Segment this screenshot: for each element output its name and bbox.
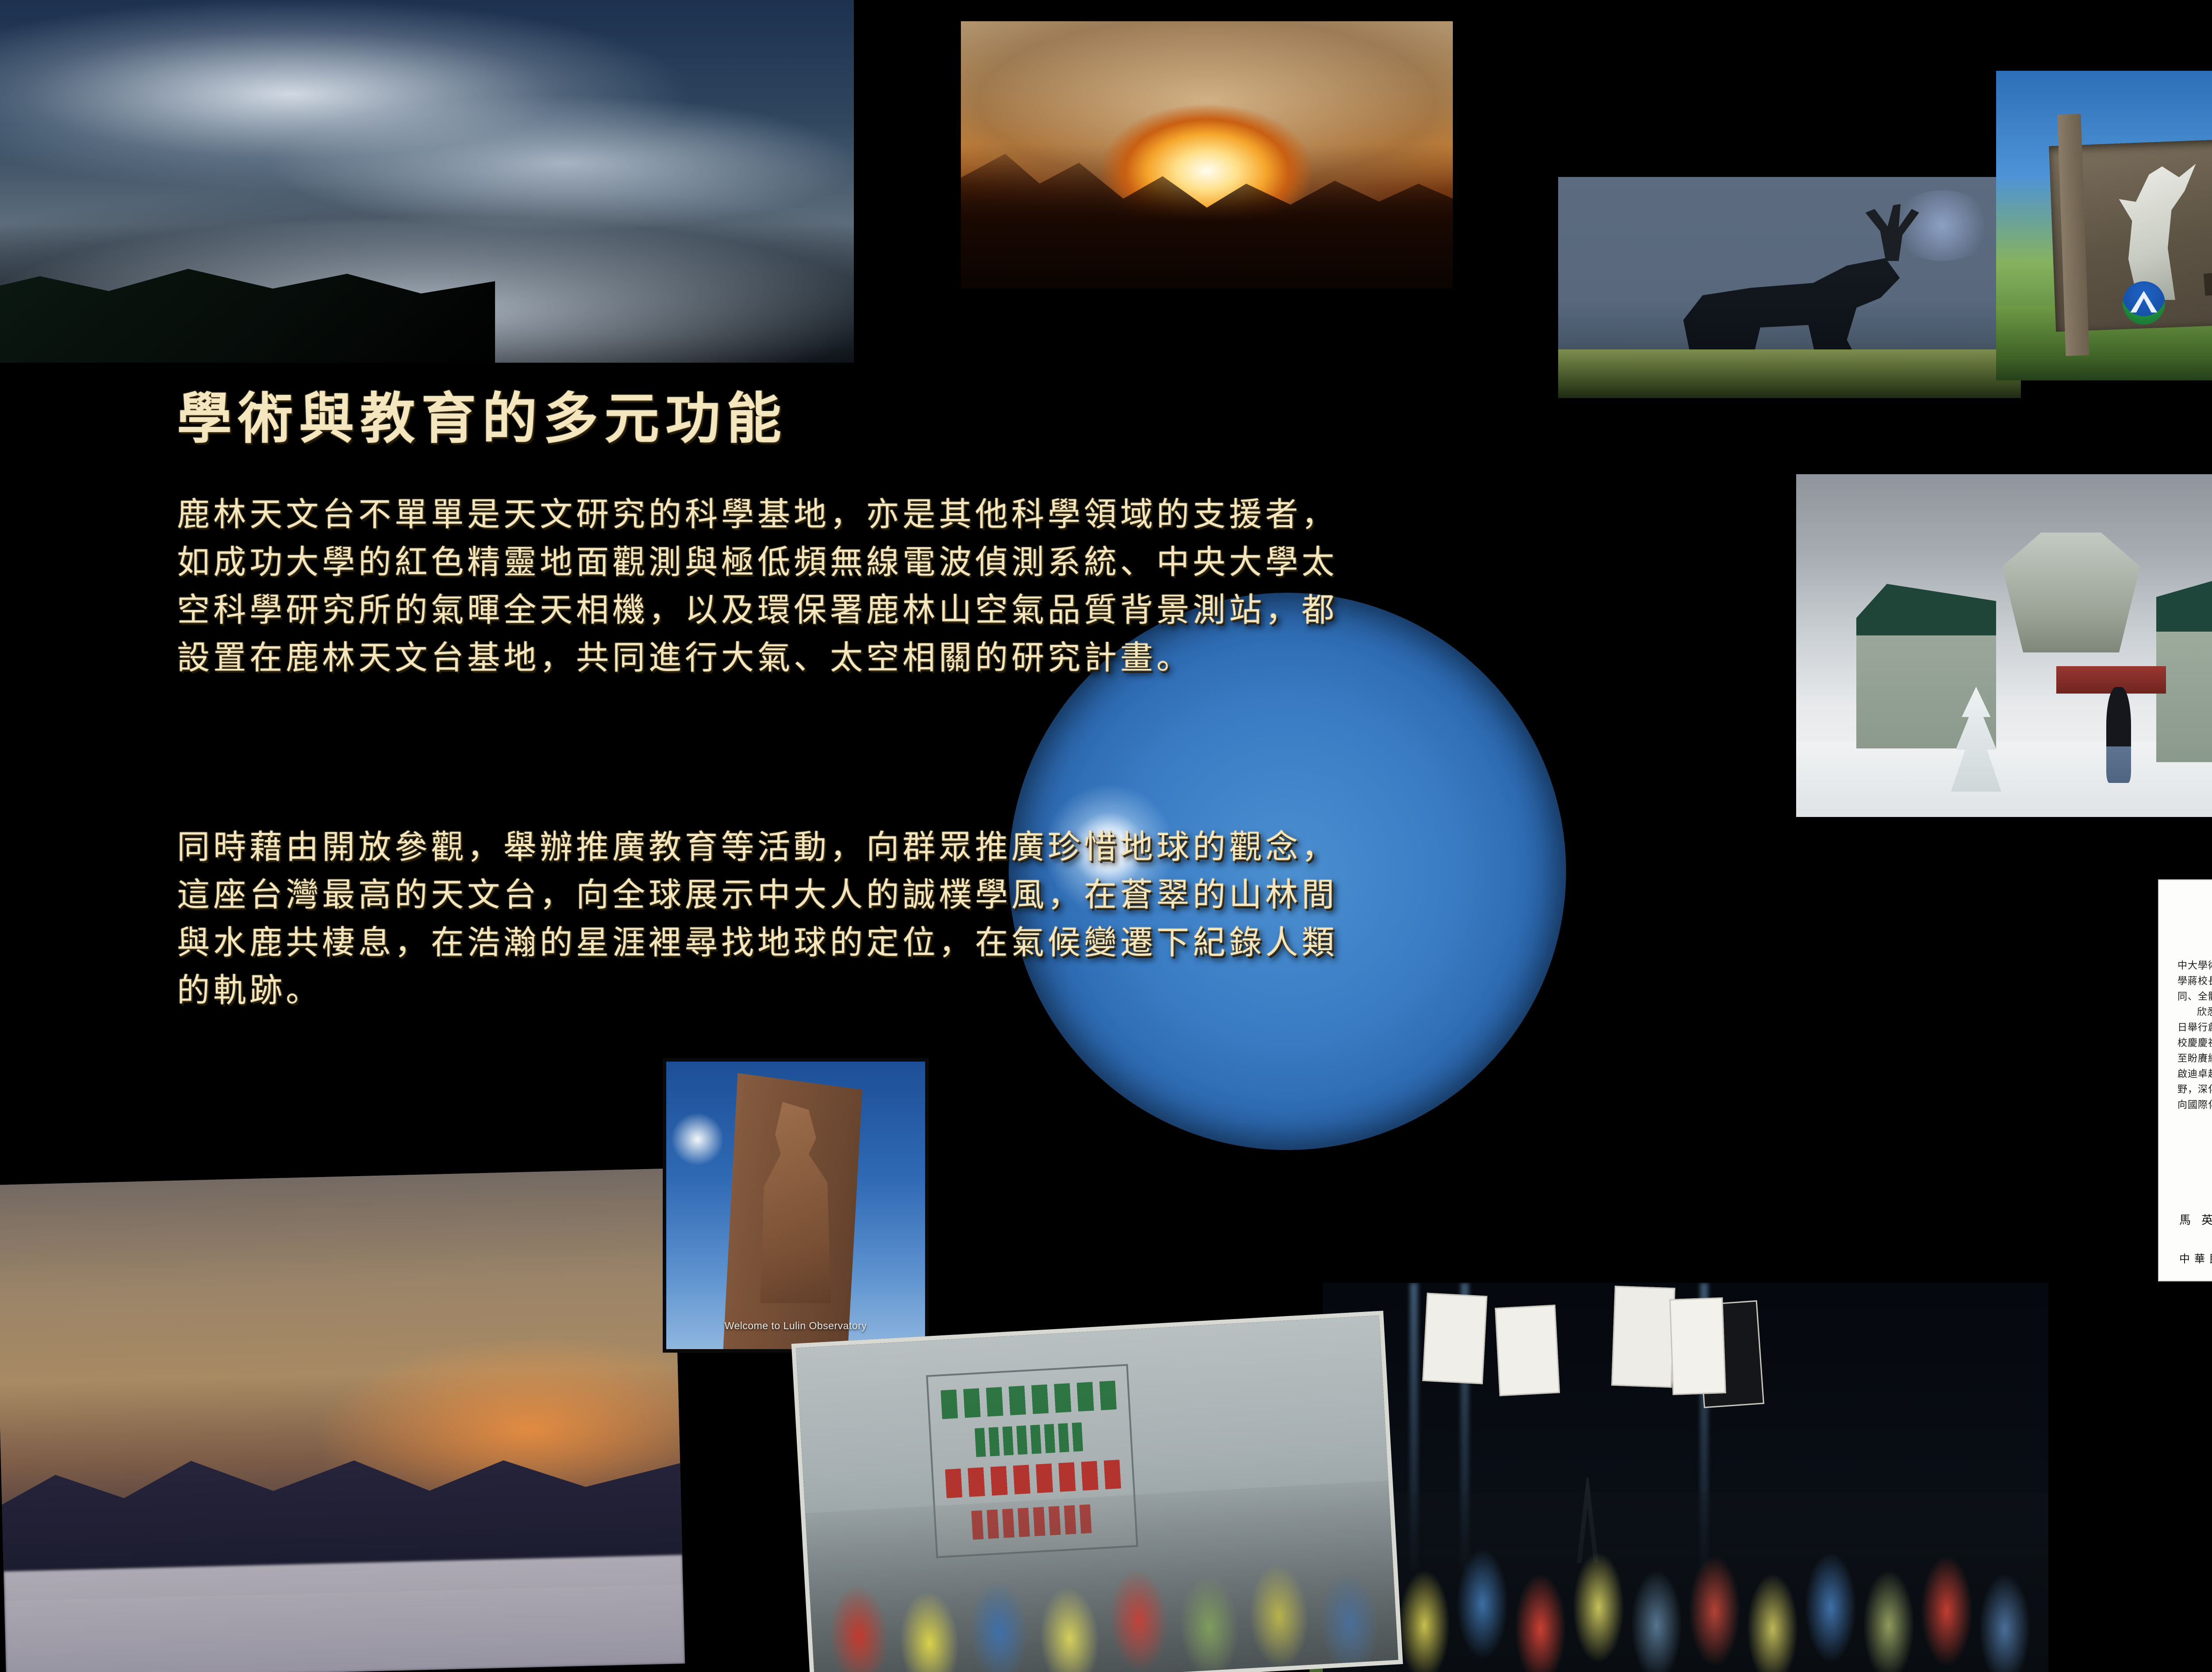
snow-ground (1796, 742, 2212, 817)
photo-mountain-sunset-print (0, 1168, 685, 1672)
telegram-body-line: 中大學術基金會劉董事長兆漢、中央大 (2177, 958, 2212, 973)
group-of-people (805, 1481, 1398, 1672)
einstein-poster-quote (1611, 1285, 1675, 1388)
person-walking (2106, 687, 2131, 783)
telegram-body: 中大學術基金會劉董事長兆漢、中央大 學蔣校長偉寧、校友總會廖理事長溪 同、全體教… (2177, 958, 2212, 1112)
paragraph-line: 空科學研究所的氣暉全天相機，以及環保署鹿林山空氣品質背景測站，都 (177, 587, 1778, 634)
photo-cloud-mountain-image (0, 0, 854, 363)
held-poster (1494, 1304, 1559, 1396)
signboard-text-strokes (2204, 260, 2212, 296)
grass-foreground (1558, 349, 2021, 398)
telegram-body-line: 啟迪卓越創新思維，涵濡人文藝術視 (2177, 1066, 2212, 1081)
einstein-poster-tongue (1669, 1297, 1726, 1395)
photo-night-crowd-image (1323, 1283, 2048, 1672)
paragraph-line: 設置在鹿林天文台基地，共同進行大氣、太空相關的研究計畫。 (177, 634, 1778, 682)
telegram-body-line: 至盼賡續秉持「鹿林彗星」探索精神， (2177, 1051, 2212, 1066)
telegram-body-line: 校慶慶祝大會暨系列活動，特電致賀。 (2177, 1035, 2212, 1050)
photo-sambar-deer (1554, 173, 2025, 403)
photo-sunset-ridge (961, 21, 1453, 288)
epa-logo-icon (2123, 281, 2165, 325)
large-dome (1996, 522, 2146, 653)
paragraph-line: 同時藉由開放參觀，舉辦推廣教育等活動，向群眾推廣珍惜地球的觀念， (177, 824, 1778, 871)
paragraph-one: 鹿林天文台不單單是天文研究的科學基地，亦是其他科學領域的支援者， 如成功大學的紅… (177, 491, 1778, 682)
photo-snow-observatory (1792, 470, 2212, 821)
photo-caption-welcome: Welcome to Lulin Observatory (672, 1320, 920, 1332)
sign-line-institute (975, 1422, 1083, 1457)
cloud-puff (672, 1113, 723, 1165)
paragraph-line: 鹿林天文台不單單是天文研究的科學基地，亦是其他科學領域的支援者， (177, 491, 1778, 539)
photo-park-entrance-sign (1996, 71, 2212, 380)
slide-canvas: Welcome to Lulin Observatory (0, 0, 2212, 1672)
telegram-body-line: 野，深化光電科技研究，共同為大學邁 (2177, 1082, 2212, 1097)
sign-line-observatory (945, 1460, 1121, 1498)
deer-body-shape (1678, 243, 1919, 367)
sign-line-university (941, 1381, 1117, 1419)
paragraph-line: 如成功大學的紅色精靈地面觀測與極低頻無線電波偵測系統、中央大學太 (177, 539, 1778, 587)
paragraph-two: 同時藉由開放參觀，舉辦推廣教育等活動，向群眾推廣珍惜地球的觀念， 這座台灣最高的… (177, 824, 1778, 1015)
photo-park-entrance-sign-image (1996, 71, 2212, 380)
presidential-congratulation-telegram: 總統賀電 華總二榮電：098050191 號 中大學術基金會劉董事長兆漢、中央大… (2158, 879, 2212, 1281)
photo-mountain-sunset-image (0, 1168, 685, 1672)
page-title: 學術與教育的多元功能 (177, 374, 787, 453)
photo-group-image (796, 1315, 1398, 1672)
held-poster (1422, 1293, 1487, 1384)
low-cloud-layer (4, 1555, 685, 1672)
photo-group-at-observatory-sign (791, 1311, 1403, 1672)
telegram-signature: 馬英九 (2179, 1211, 2212, 1227)
photo-wood-carving-image: Welcome to Lulin Observatory (666, 1062, 925, 1349)
telegram-body-line: 同、全體教職員生暨與會人士公鑒： (2177, 989, 2212, 1004)
photo-cloud-mountain (0, 0, 854, 363)
photo-wood-carving-monument: Welcome to Lulin Observatory (663, 1058, 929, 1353)
red-roof-building (2056, 666, 2166, 694)
telegram-document-number: 華總二榮電：098050191 號 (2159, 941, 2212, 950)
telegram-body-line: 學蔣校長偉寧、校友總會廖理事長溪 (2177, 974, 2212, 988)
paragraph-line: 這座台灣最高的天文台，向全球展示中大人的誠樸學風，在蒼翠的山林間 (177, 871, 1778, 919)
telegram-title: 總統賀電 (2159, 895, 2212, 932)
photo-sambar-deer-image (1558, 177, 2021, 398)
photo-snow-observatory-image (1796, 474, 2212, 817)
telegram-body-line: 日舉行創校94週年（在台復校47週年） (2177, 1020, 2212, 1035)
telegram-body-line: 向國際化永續發展貢獻心力。 (2177, 1097, 2212, 1112)
telegram-body-line: 欣悉 貴校訂於本（98）年5月23 (2177, 1005, 2212, 1019)
paragraph-line: 的軌跡。 (177, 967, 1778, 1015)
paragraph-line: 與水鹿共棲息，在浩瀚的星涯裡尋找地球的定位，在氣候變遷下紀錄人類 (177, 919, 1778, 967)
photo-sunset-ridge-image (961, 21, 1453, 288)
crowd-of-people (1323, 1493, 2048, 1672)
photo-night-crowd-posters (1323, 1283, 2048, 1672)
telegram-date: 中華民國 98 年 5 月 20 日 (2179, 1250, 2212, 1266)
